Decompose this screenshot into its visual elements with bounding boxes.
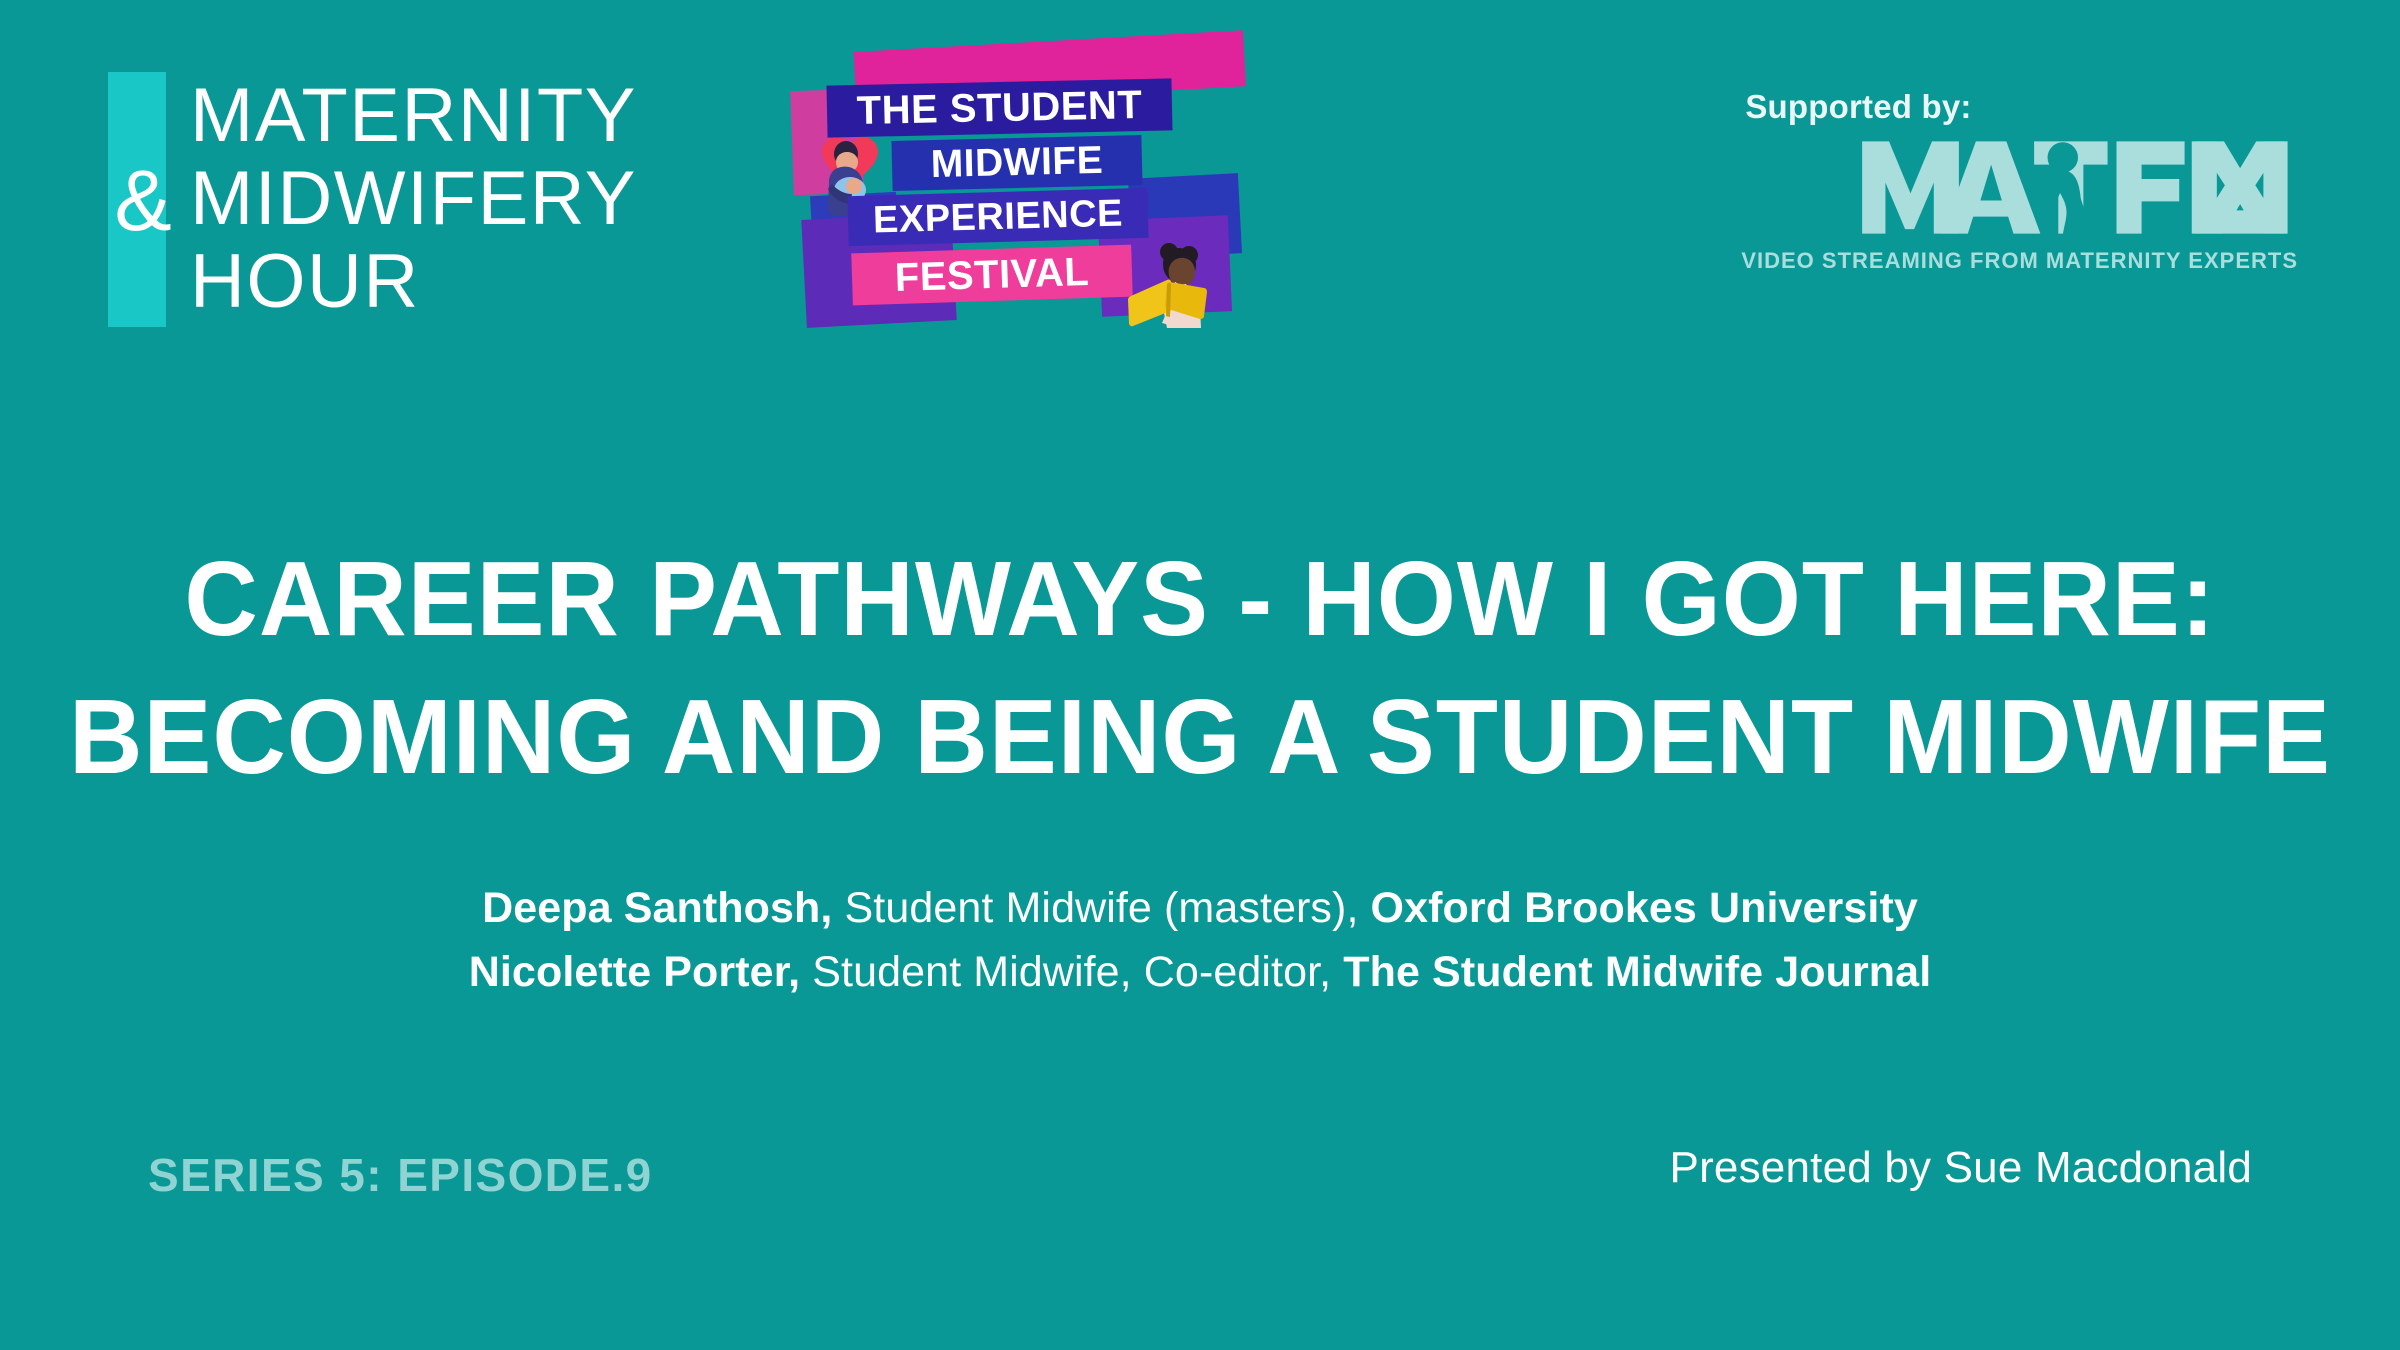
supported-by-label: Supported by: xyxy=(1741,88,2298,126)
matflix-tagline: VIDEO STREAMING FROM MATERNITY EXPERTS xyxy=(1741,248,2298,274)
logo-line-midwifery: MIDWIFERY xyxy=(190,157,637,240)
woman-reading-book-illustration-icon xyxy=(1125,238,1217,328)
presenter-label: Presented by Sue Macdonald xyxy=(1670,1143,2252,1193)
logo-line-hour: HOUR xyxy=(190,240,637,323)
speakers-list: Deepa Santhosh, Student Midwife (masters… xyxy=(0,876,2400,1004)
speaker-2-name: Nicolette Porter, xyxy=(469,948,800,996)
speaker-1-affiliation: Oxford Brookes University xyxy=(1371,884,1918,932)
speaker-2-role: Student Midwife, Co-editor, xyxy=(800,948,1343,996)
logo-wordmark: MATERNITY MIDWIFERY HOUR xyxy=(190,74,637,323)
matflix-logo xyxy=(1741,136,2298,244)
student-midwife-experience-festival-logo: THE STUDENT MIDWIFE EXPERIENCE FESTIVAL xyxy=(800,46,1220,336)
title-line-1: CAREER PATHWAYS - HOW I GOT HERE: xyxy=(48,530,2352,668)
page-title: CAREER PATHWAYS - HOW I GOT HERE: BECOMI… xyxy=(0,530,2400,806)
logo-ampersand: & xyxy=(114,158,172,244)
speaker-line-2: Nicolette Porter, Student Midwife, Co-ed… xyxy=(0,940,2400,1004)
festival-line-experience: EXPERIENCE xyxy=(847,188,1148,246)
maternity-midwifery-hour-logo: & MATERNITY MIDWIFERY HOUR xyxy=(108,72,637,327)
festival-line-midwife: MIDWIFE xyxy=(891,135,1142,191)
slide-canvas: & MATERNITY MIDWIFERY HOUR T xyxy=(0,0,2400,1350)
speaker-1-name: Deepa Santhosh, xyxy=(482,884,832,932)
festival-line-the-student: THE STUDENT xyxy=(826,78,1172,137)
speaker-1-role: Student Midwife (masters), xyxy=(832,884,1370,932)
logo-line-maternity: MATERNITY xyxy=(190,74,637,157)
title-line-2: BECOMING AND BEING A STUDENT MIDWIFE xyxy=(48,668,2352,806)
sponsor-block: Supported by: xyxy=(1741,88,2298,274)
speaker-2-affiliation: The Student Midwife Journal xyxy=(1343,948,1931,996)
speaker-line-1: Deepa Santhosh, Student Midwife (masters… xyxy=(0,876,2400,940)
festival-line-festival: FESTIVAL xyxy=(851,245,1132,306)
logo-accent-bar: & xyxy=(108,72,166,327)
series-episode-label: SERIES 5: EPISODE.9 xyxy=(148,1148,653,1202)
